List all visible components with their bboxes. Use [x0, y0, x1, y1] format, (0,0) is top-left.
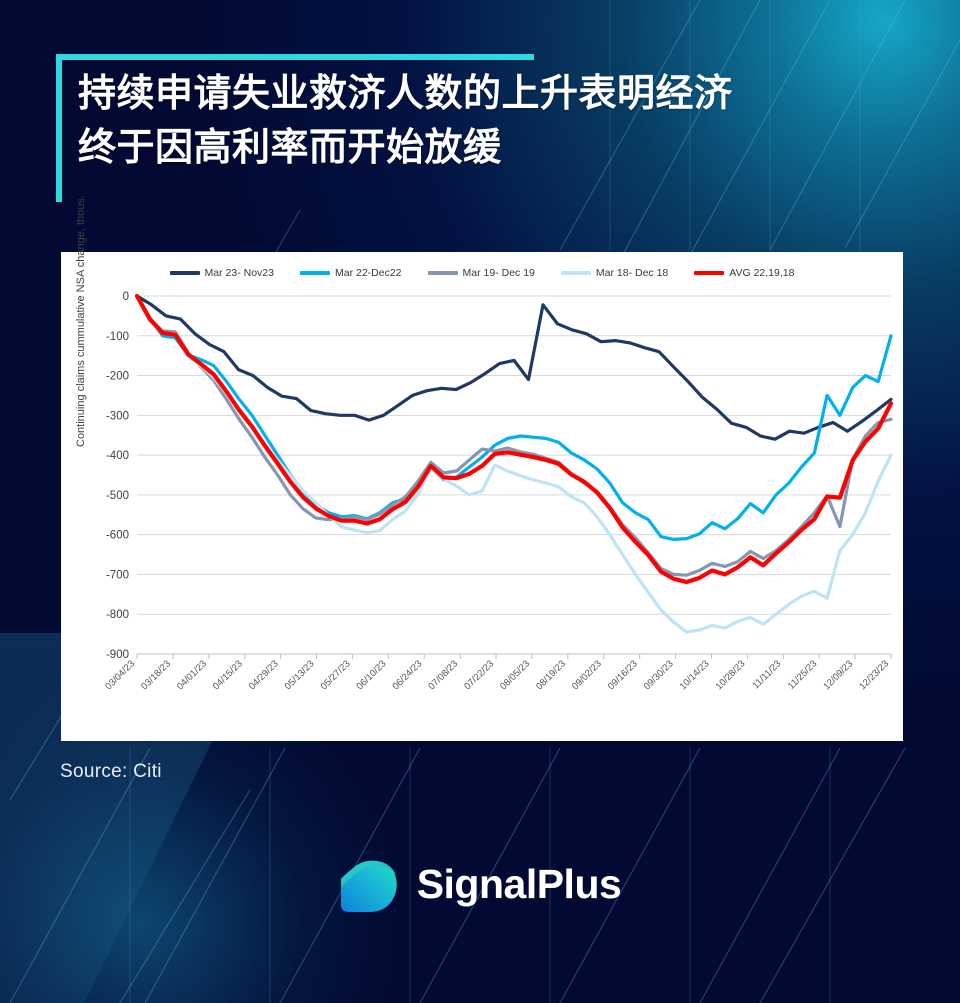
accent-bar-left [56, 54, 62, 202]
x-axis-tick-label: 12/09/23 [821, 658, 855, 692]
x-axis-tick-label: 06/10/23 [355, 658, 389, 692]
x-axis-tick-label: 09/16/23 [606, 658, 640, 692]
x-axis-tick-label: 11/11/23 [750, 658, 783, 691]
legend-item[interactable]: Mar 18- Dec 18 [561, 267, 668, 279]
chart-series-line [137, 296, 891, 439]
chart-plot-area: Continuing claims cummulative NSA change… [61, 282, 903, 741]
y-axis-tick-label: -700 [106, 569, 129, 581]
x-axis-tick-label: 03/04/23 [103, 658, 137, 692]
x-axis-tick-label: 05/27/23 [319, 658, 353, 692]
y-axis-tick-label: -600 [106, 530, 129, 542]
page-title: 持续申请失业救济人数的上升表明经济 终于因高利率而开始放缓 [56, 54, 906, 176]
headline-block: 持续申请失业救济人数的上升表明经济 终于因高利率而开始放缓 [56, 54, 906, 176]
legend-item[interactable]: Mar 23- Nov23 [170, 267, 274, 279]
y-axis-tick-label: -200 [106, 371, 129, 383]
chart-series-line [137, 296, 891, 539]
x-axis-tick-label: 08/19/23 [534, 658, 568, 692]
chart-series-line [137, 296, 891, 632]
legend-item[interactable]: Mar 19- Dec 19 [428, 267, 535, 279]
x-axis-tick-label: 10/28/23 [714, 658, 748, 692]
legend-swatch [561, 271, 591, 275]
x-axis-tick-label: 06/24/23 [390, 658, 424, 692]
y-axis-tick-label: -300 [106, 410, 129, 422]
legend-swatch [300, 271, 330, 275]
x-axis-tick-label: 12/23/23 [857, 658, 891, 692]
y-axis-tick-label: -900 [106, 649, 129, 661]
legend-item[interactable]: Mar 22-Dec22 [300, 267, 402, 279]
x-axis-tick-label: 10/14/23 [678, 658, 712, 692]
legend-swatch [170, 271, 200, 275]
signalplus-wave-logo-icon [339, 855, 401, 913]
x-axis-tick-label: 08/05/23 [498, 658, 532, 692]
headline-line-1: 持续申请失业救济人数的上升表明经济 [78, 68, 906, 122]
brand-name: SignalPlus [417, 861, 622, 908]
legend-label: Mar 19- Dec 19 [463, 267, 535, 279]
x-axis-tick-label: 07/22/23 [462, 658, 496, 692]
chart-legend: Mar 23- Nov23Mar 22-Dec22Mar 19- Dec 19M… [61, 252, 903, 282]
legend-label: Mar 23- Nov23 [205, 267, 274, 279]
line-chart-svg: 0-100-200-300-400-500-600-700-800-90003/… [61, 282, 903, 741]
x-axis-tick-label: 09/02/23 [570, 658, 604, 692]
x-axis-tick-label: 11/25/23 [786, 658, 819, 691]
x-axis-tick-label: 05/13/23 [283, 658, 317, 692]
chart-card: Mar 23- Nov23Mar 22-Dec22Mar 19- Dec 19M… [61, 252, 903, 741]
y-axis-tick-label: -500 [106, 490, 129, 502]
x-axis-tick-label: 04/15/23 [211, 658, 245, 692]
legend-label: Mar 22-Dec22 [335, 267, 402, 279]
y-axis-tick-label: 0 [123, 291, 129, 303]
x-axis-tick-label: 04/01/23 [175, 658, 209, 692]
legend-label: Mar 18- Dec 18 [596, 267, 668, 279]
legend-label: AVG 22,19,18 [729, 267, 794, 279]
source-caption: Source: Citi [60, 761, 162, 783]
x-axis-tick-label: 03/18/23 [139, 658, 173, 692]
headline-line-2: 终于因高利率而开始放缓 [78, 122, 906, 176]
x-axis-tick-label: 07/08/23 [426, 658, 460, 692]
x-axis-tick-label: 09/30/23 [642, 658, 676, 692]
y-axis-tick-label: -800 [106, 609, 129, 621]
y-axis-tick-label: -100 [106, 331, 129, 343]
y-axis-tick-label: -400 [106, 450, 129, 462]
legend-item[interactable]: AVG 22,19,18 [694, 267, 794, 279]
legend-swatch [428, 271, 458, 275]
legend-swatch [694, 271, 724, 275]
x-axis-tick-label: 04/29/23 [247, 658, 281, 692]
brand-logo: SignalPlus [0, 855, 960, 913]
accent-bar-top [56, 54, 534, 60]
